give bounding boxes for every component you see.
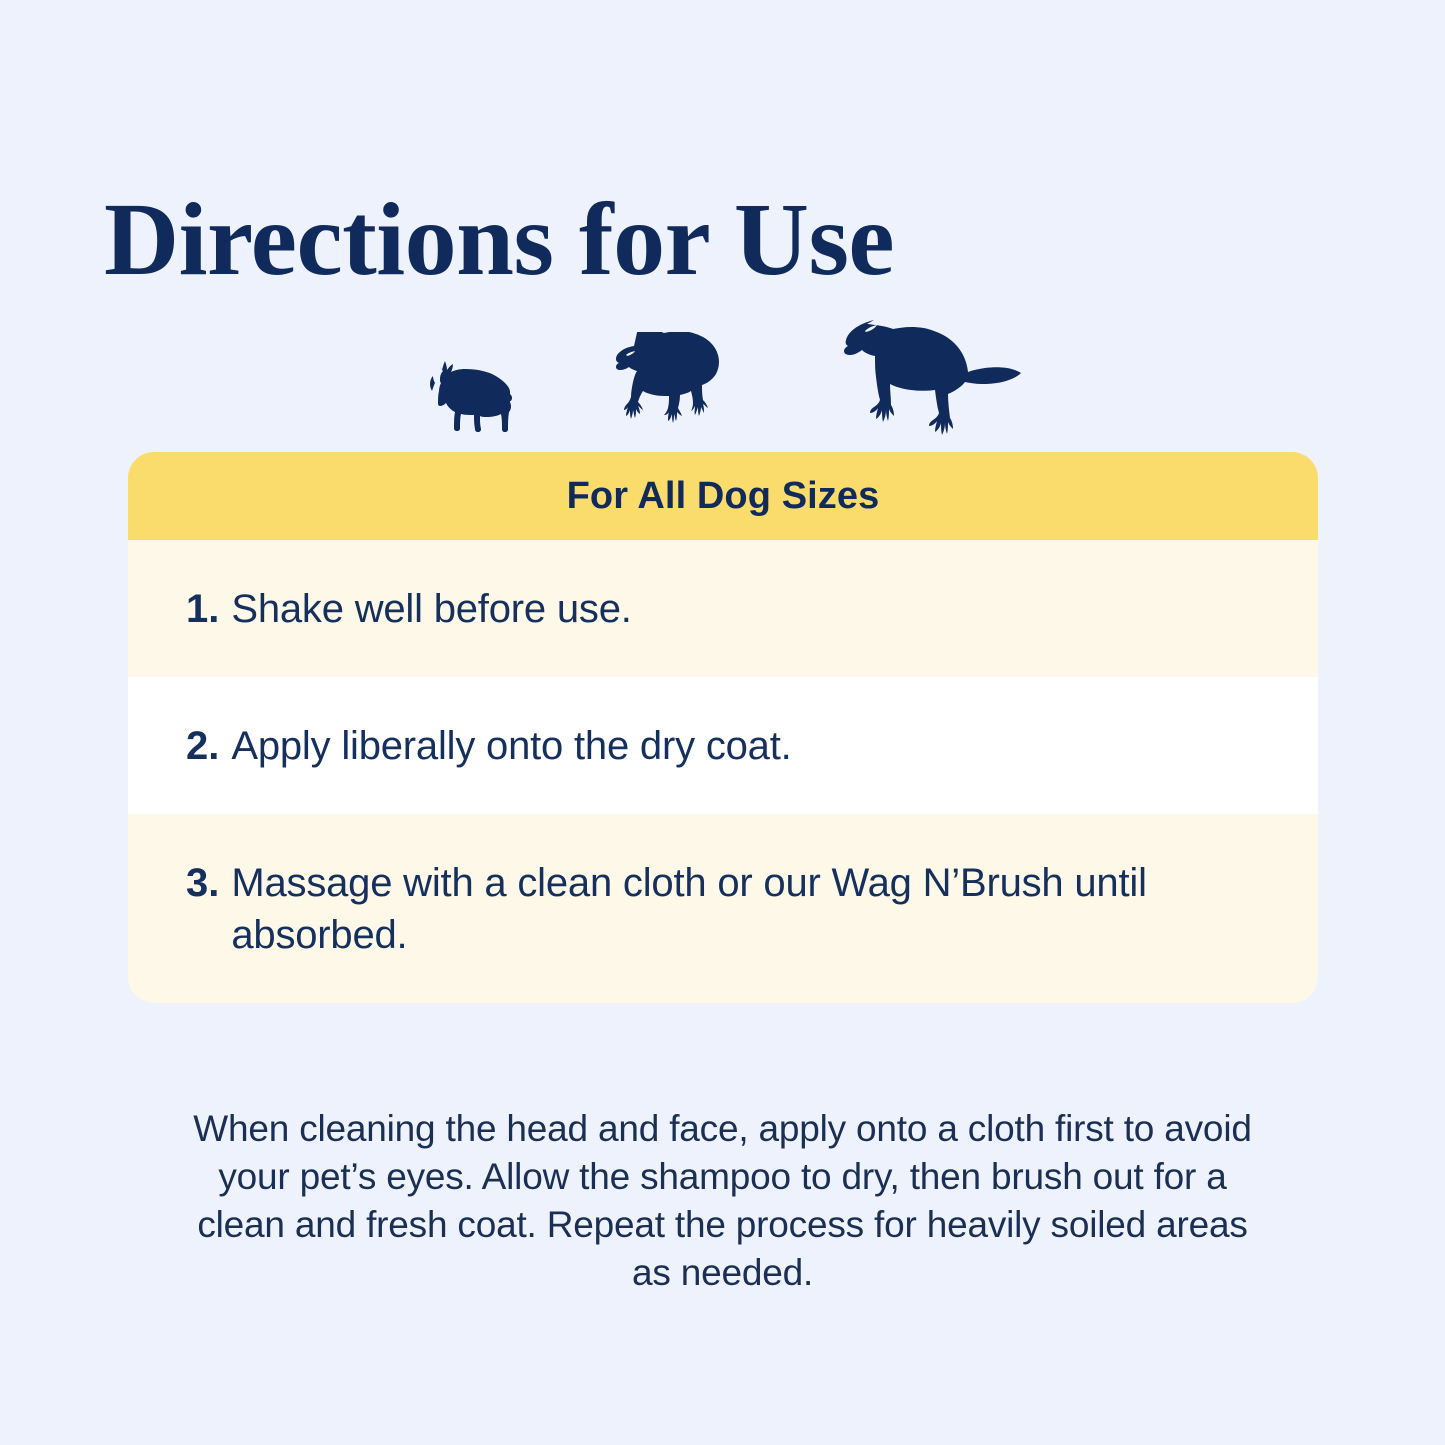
large-dog-silhouette-icon <box>838 310 1028 442</box>
step-number-1: 1. <box>186 584 219 635</box>
step-text-2: Apply liberally onto the dry coat. <box>231 721 791 772</box>
step-row-1: 1. Shake well before use. <box>128 540 1318 677</box>
step-number-2: 2. <box>186 721 219 772</box>
small-dog-silhouette-icon <box>418 358 520 442</box>
dog-size-illustrations <box>0 296 1445 442</box>
card-header-title: For All Dog Sizes <box>567 475 880 518</box>
step-text-3: Massage with a clean cloth or our Wag N’… <box>231 858 1241 960</box>
step-number-3: 3. <box>186 858 219 909</box>
page-title: Directions for Use <box>104 184 894 296</box>
medium-dog-silhouette-icon <box>604 332 754 442</box>
footer-note: When cleaning the head and face, apply o… <box>178 1105 1268 1297</box>
step-text-1: Shake well before use. <box>231 584 631 635</box>
card-header: For All Dog Sizes <box>128 452 1318 540</box>
step-row-2: 2. Apply liberally onto the dry coat. <box>128 677 1318 814</box>
step-row-3: 3. Massage with a clean cloth or our Wag… <box>128 814 1318 1002</box>
directions-card: For All Dog Sizes 1. Shake well before u… <box>128 452 1318 1003</box>
directions-for-use-page: Directions for Use For All Dog Sizes 1. … <box>0 0 1445 1445</box>
